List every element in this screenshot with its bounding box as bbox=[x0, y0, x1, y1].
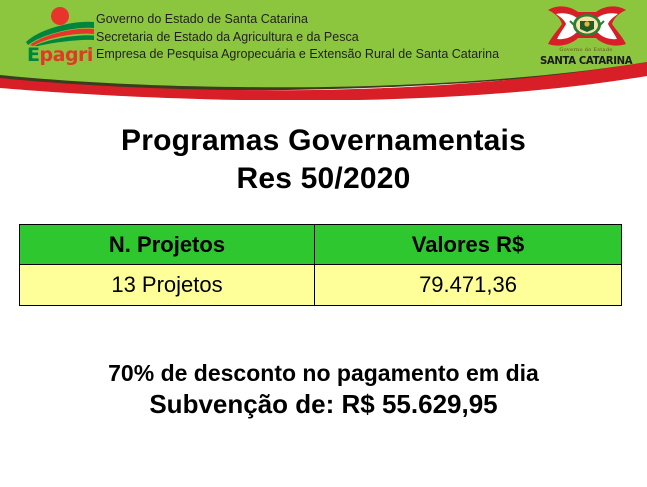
table-header-row: N. Projetos Valores R$ bbox=[20, 225, 622, 265]
seal-state-name: SANTA CATARINA bbox=[540, 54, 632, 67]
footer-notes: 70% de desconto no pagamento em dia Subv… bbox=[0, 358, 647, 421]
table-cell-valor: 79.471,36 bbox=[315, 265, 622, 306]
santa-catarina-seal: Governo do Estado SANTA CATARINA bbox=[536, 4, 636, 72]
header-banner: Epagri Governo do Estado de Santa Catari… bbox=[0, 0, 647, 100]
table-header-valores: Valores R$ bbox=[315, 225, 622, 265]
epagri-wordmark: Epagri bbox=[24, 44, 96, 66]
footer-discount-line: 70% de desconto no pagamento em dia bbox=[0, 358, 647, 388]
header-line-1: Governo do Estado de Santa Catarina bbox=[96, 11, 540, 29]
footer-subvencao-line: Subvenção de: R$ 55.629,95 bbox=[0, 388, 647, 421]
header-line-3: Empresa de Pesquisa Agropecuária e Exten… bbox=[96, 46, 540, 64]
table-header-n-projetos: N. Projetos bbox=[20, 225, 315, 265]
santa-catarina-flag-icon bbox=[544, 4, 630, 50]
seal-subtitle: Governo do Estado bbox=[536, 47, 636, 53]
header-line-2: Secretaria de Estado da Agricultura e da… bbox=[96, 29, 540, 47]
page-title: Programas Governamentais Res 50/2020 bbox=[0, 122, 647, 198]
projects-table: N. Projetos Valores R$ 13 Projetos 79.47… bbox=[19, 224, 622, 306]
epagri-wordmark-rest: pagri bbox=[40, 44, 93, 66]
epagri-sun-field-icon bbox=[24, 6, 96, 46]
header-text-block: Governo do Estado de Santa Catarina Secr… bbox=[96, 11, 540, 64]
table-cell-projetos-count: 13 Projetos bbox=[20, 265, 315, 306]
header-content: Epagri Governo do Estado de Santa Catari… bbox=[0, 0, 647, 78]
epagri-logo: Epagri bbox=[24, 6, 96, 68]
slide-root: Epagri Governo do Estado de Santa Catari… bbox=[0, 0, 647, 487]
page-title-line-1: Programas Governamentais bbox=[0, 122, 647, 160]
table-row: 13 Projetos 79.471,36 bbox=[20, 265, 622, 306]
epagri-wordmark-first: E bbox=[27, 44, 39, 66]
page-title-line-2: Res 50/2020 bbox=[0, 160, 647, 198]
